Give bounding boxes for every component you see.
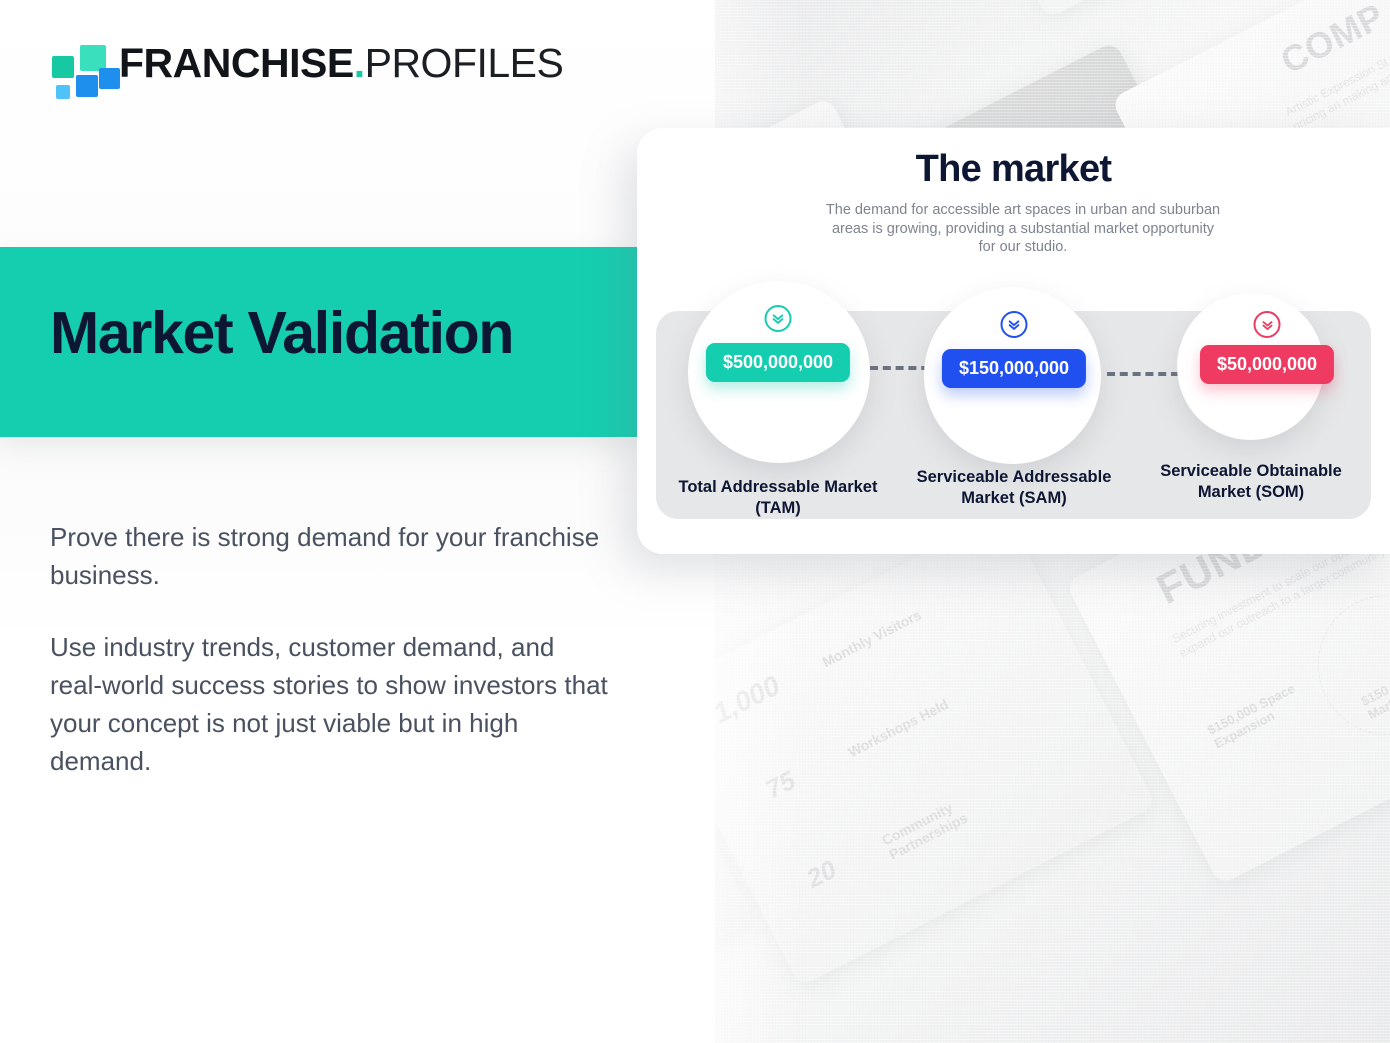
brand-logo[interactable]: FRANCHISE.PROFILES xyxy=(47,40,537,102)
market-node-value-tam: $500,000,000 xyxy=(706,343,850,382)
background-label: Community Partnerships xyxy=(879,784,992,862)
logo-square-teal xyxy=(52,56,74,78)
body-copy: Prove there is strong demand for your fr… xyxy=(50,518,610,780)
body-paragraph-2: Use industry trends, customer demand, an… xyxy=(50,628,610,780)
background-number: 20 xyxy=(802,854,842,895)
market-node-caption-tam: Total Addressable Market (TAM) xyxy=(676,477,880,519)
slide-canvas: $ Drop-In Fees Session Workshops Commiss… xyxy=(0,0,1390,1043)
market-node-caption-som: Serviceable Obtainable Market (SOM) xyxy=(1149,461,1353,503)
body-paragraph-1: Prove there is strong demand for your fr… xyxy=(50,518,610,594)
market-node-caption-sam: Serviceable Addressable Market (SAM) xyxy=(912,467,1116,509)
background-label: Workshops Held xyxy=(845,696,950,760)
background-label: $150,000 Space Expansion xyxy=(1205,674,1317,751)
background-label: Monthly Visitors xyxy=(820,606,924,670)
logo-squares-icon xyxy=(47,44,107,98)
logo-square-blue xyxy=(76,75,98,97)
logo-square-light-blue xyxy=(56,85,70,99)
logo-wordmark-bold: FRANCHISE xyxy=(119,40,354,86)
market-funnel-diagram: $500,000,000 Total Addressable Market (T… xyxy=(637,128,1390,554)
logo-wordmark: FRANCHISE.PROFILES xyxy=(119,40,563,87)
donut-chart-icon xyxy=(1294,571,1390,759)
market-node-value-sam: $150,000,000 xyxy=(942,349,1086,388)
background-number: 1,000 xyxy=(715,670,785,730)
double-chevron-down-icon xyxy=(1254,311,1281,338)
page-title: Market Validation xyxy=(50,299,513,367)
background-number: 75 xyxy=(761,765,801,806)
hero-band: Market Validation xyxy=(0,247,637,437)
double-chevron-down-icon xyxy=(1001,311,1028,338)
left-content-column: FRANCHISE.PROFILES Market Validation Pro… xyxy=(0,0,715,1043)
double-chevron-down-icon xyxy=(765,305,792,332)
logo-square-blue-2 xyxy=(99,68,120,89)
logo-wordmark-dot: . xyxy=(354,40,365,86)
market-node-value-som: $50,000,000 xyxy=(1200,345,1334,384)
connector-sam-som xyxy=(1107,372,1179,376)
logo-wordmark-light: PROFILES xyxy=(365,40,564,86)
